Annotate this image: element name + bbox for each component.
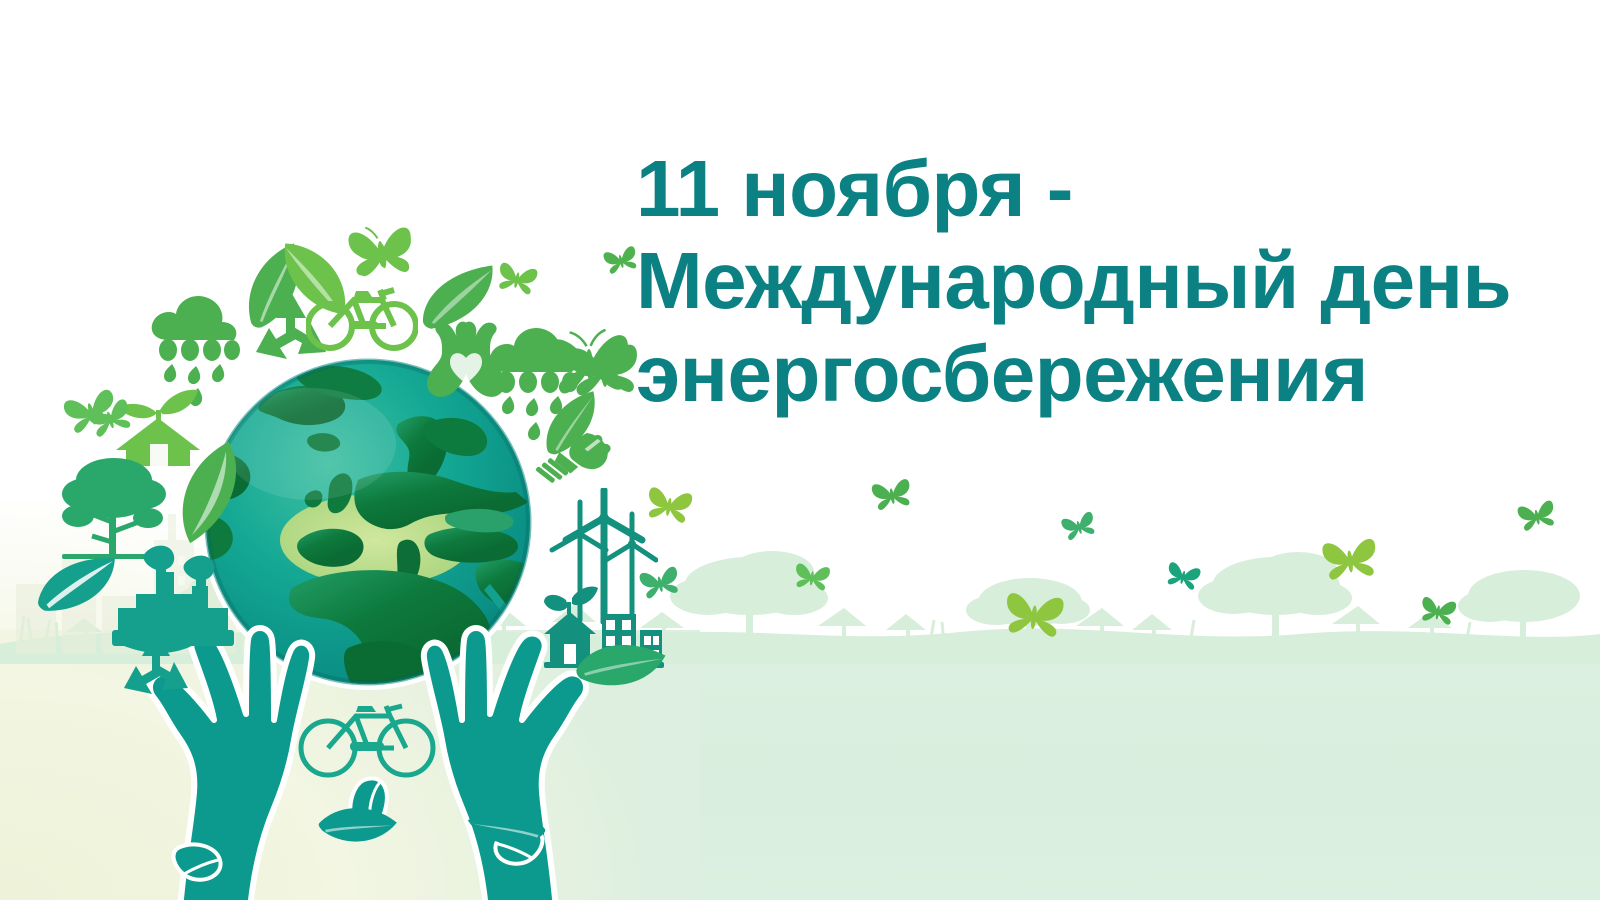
bicycle-icon <box>301 706 433 775</box>
butterfly-icon <box>792 560 832 595</box>
eco-illustration <box>0 0 700 900</box>
title-line-1: 11 ноября - <box>636 150 1576 228</box>
butterfly-icon <box>643 482 695 528</box>
butterfly-icon <box>1002 587 1067 644</box>
recycle-icon <box>116 628 196 706</box>
page-title: 11 ноября - Международный день энергосбе… <box>636 150 1576 413</box>
butterfly-icon <box>1320 533 1381 586</box>
bicycle-icon <box>306 280 418 352</box>
butterfly-icon <box>566 338 642 404</box>
butterfly-icon <box>1418 593 1459 629</box>
butterfly-icon <box>869 475 914 515</box>
butterfly-icon <box>349 225 416 284</box>
title-line-2: Международный день <box>636 242 1576 320</box>
poster-canvas: 11 ноября - Международный день энергосбе… <box>0 0 1600 900</box>
title-line-3: энергосбережения <box>636 335 1576 413</box>
